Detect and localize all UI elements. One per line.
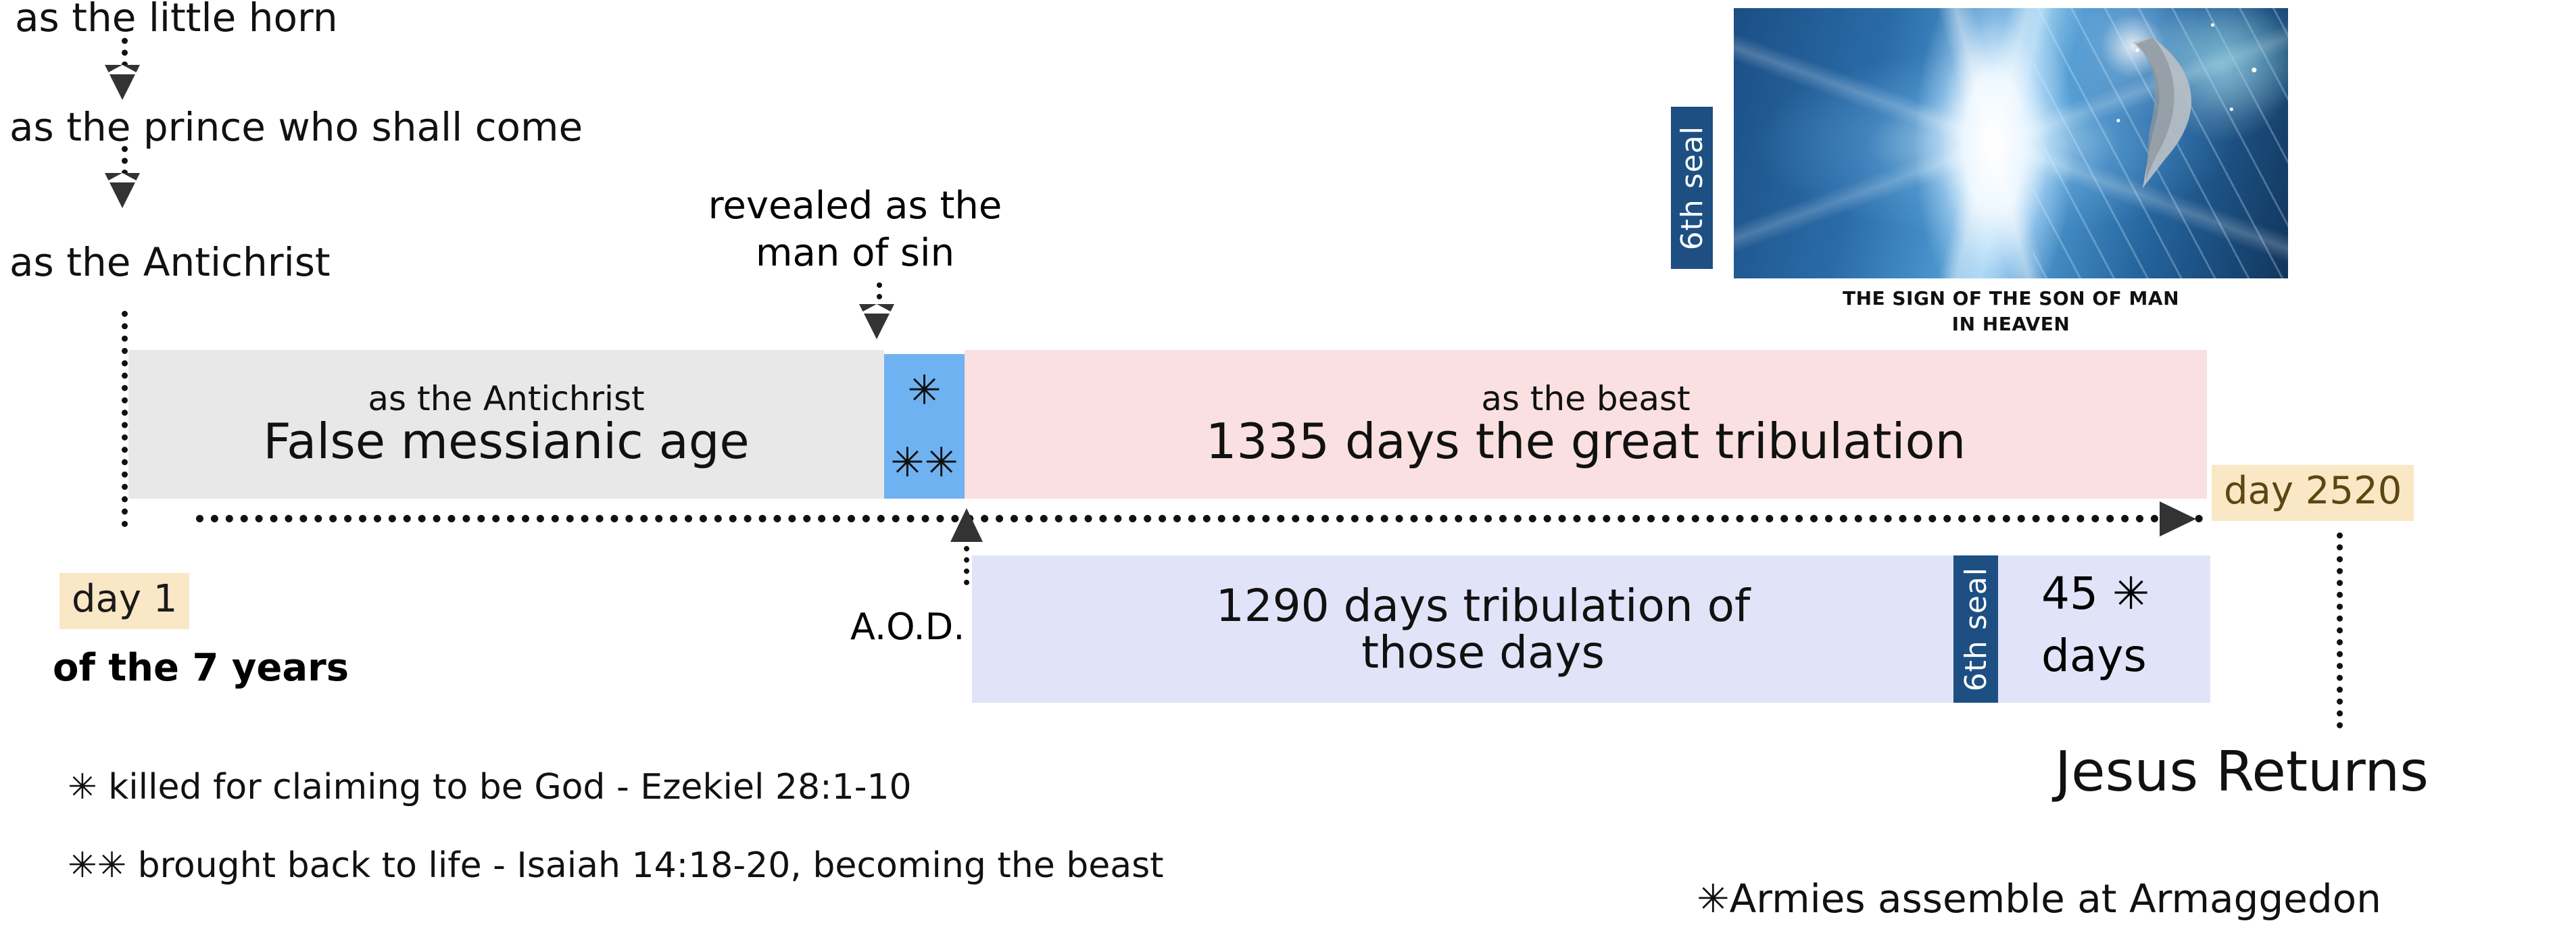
callout-revealed-line2: man of sin <box>679 234 1031 274</box>
sign-of-son-of-man-image <box>1734 8 2288 278</box>
picture-caption-line2: IN HEAVEN <box>1734 312 2288 337</box>
footnote-one: ✳ killed for claiming to be God - Ezekie… <box>68 769 912 806</box>
title-antichrist: as the Antichrist <box>9 242 331 283</box>
asterisk-single: ✳ <box>907 370 941 411</box>
bar-pink-subtitle: as the beast <box>1481 381 1690 417</box>
bar-great-tribulation-1335: as the beast 1335 days the great tribula… <box>965 350 2207 499</box>
bar-false-messianic-age: as the Antichrist False messianic age <box>128 350 884 499</box>
arrow-right-icon-timeline <box>2160 501 2196 537</box>
title-prince-who-shall-come: as the prince who shall come <box>9 107 583 148</box>
prophecy-timeline-diagram: as the little horn as the prince who sha… <box>0 0 2576 946</box>
seal-strip-picture: 6th seal <box>1671 107 1713 269</box>
seal-strip-picture-label: 6th seal <box>1675 126 1709 250</box>
callout-revealed-line1: revealed as the <box>679 186 1031 226</box>
picture-caption-line1: THE SIGN OF THE SON OF MAN <box>1734 287 2288 311</box>
day1-marker-line <box>122 311 128 527</box>
day2520-marker-line <box>2337 532 2343 728</box>
arrow-up-icon-aod <box>950 508 983 542</box>
seal-strip-lower-label: 6th seal <box>1959 567 1993 691</box>
chip-day-2520: day 2520 <box>2212 465 2414 521</box>
arrow-notch-1 <box>105 65 140 74</box>
seal-strip-lower: 6th seal <box>1953 555 1998 703</box>
footnote-two: ✳✳ brought back to life - Isaiah 14:18-2… <box>68 847 1164 885</box>
arrow-notch-revealed <box>859 304 894 314</box>
bar-gray-subtitle: as the Antichrist <box>368 381 644 417</box>
chip-day-1: day 1 <box>59 573 189 629</box>
label-jesus-returns: Jesus Returns <box>2055 743 2429 801</box>
title-little-horn: as the little horn <box>15 0 338 39</box>
connector-dots-2 <box>122 146 128 176</box>
block-death-resurrection: ✳ ✳✳ <box>884 354 965 499</box>
aod-connector-dots <box>964 546 969 585</box>
label-of-the-7-years: of the 7 years <box>53 649 349 689</box>
bar-1290-days-tribulation: 1290 days tribulation of those days <box>972 555 2210 703</box>
timeline-dotted-axis <box>196 515 2204 522</box>
bar-lav-title-line2: those days <box>1361 629 1605 676</box>
connector-dots-1 <box>122 38 128 68</box>
scythe-shape-icon <box>2049 32 2216 200</box>
arrow-notch-2 <box>105 173 140 182</box>
footnote-armageddon: ✳Armies assemble at Armaggedon <box>1697 878 2381 920</box>
bar-lav-title-line1: 1290 days tribulation of <box>1216 582 1751 629</box>
label-45-days-line2: days <box>2041 632 2147 679</box>
bar-pink-title: 1335 days the great tribulation <box>1206 416 1966 468</box>
bar-gray-title: False messianic age <box>263 416 749 468</box>
asterisk-double: ✳✳ <box>890 443 958 483</box>
label-45-days-line1: 45 ✳ <box>2041 570 2149 617</box>
